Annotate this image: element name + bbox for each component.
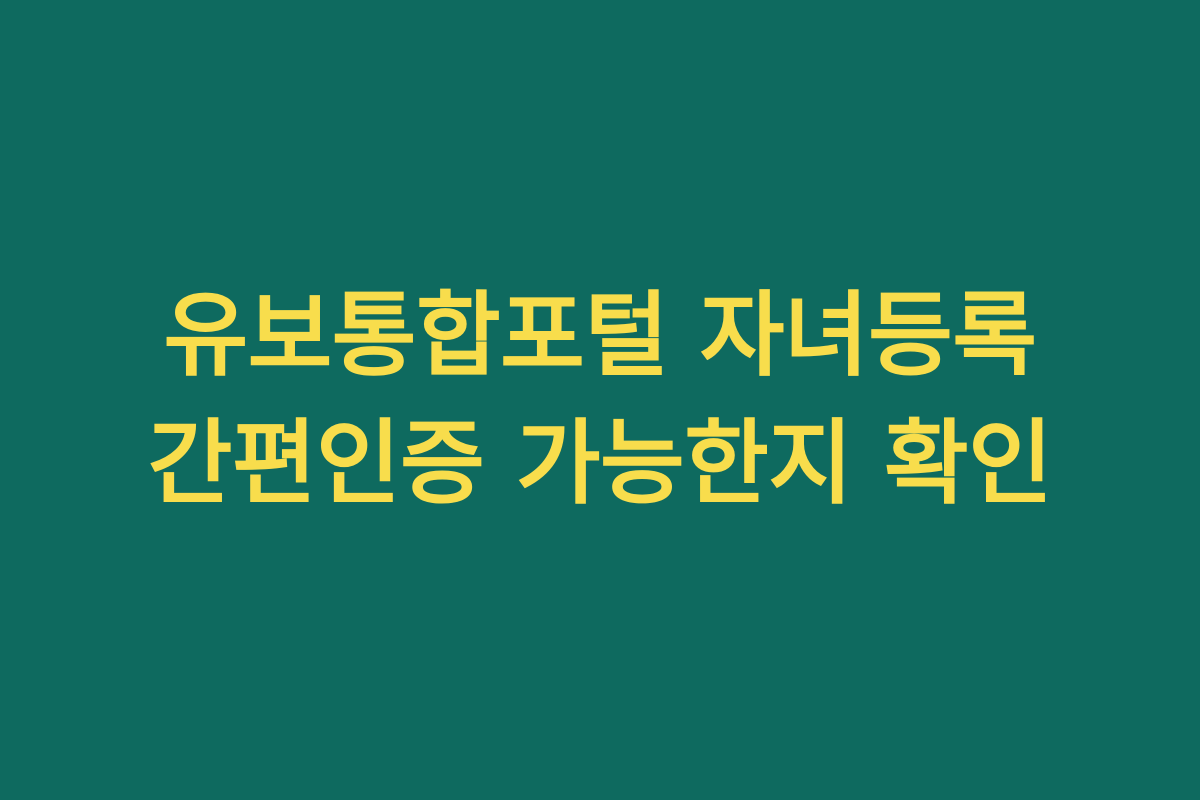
text-card: 유보통합포털 자녀등록 간편인증 가능한지 확인 — [0, 0, 1200, 800]
headline: 유보통합포털 자녀등록 간편인증 가능한지 확인 — [50, 272, 1150, 528]
headline-line-1: 유보통합포털 자녀등록 — [50, 272, 1150, 400]
headline-line-2: 간편인증 가능한지 확인 — [50, 400, 1150, 528]
